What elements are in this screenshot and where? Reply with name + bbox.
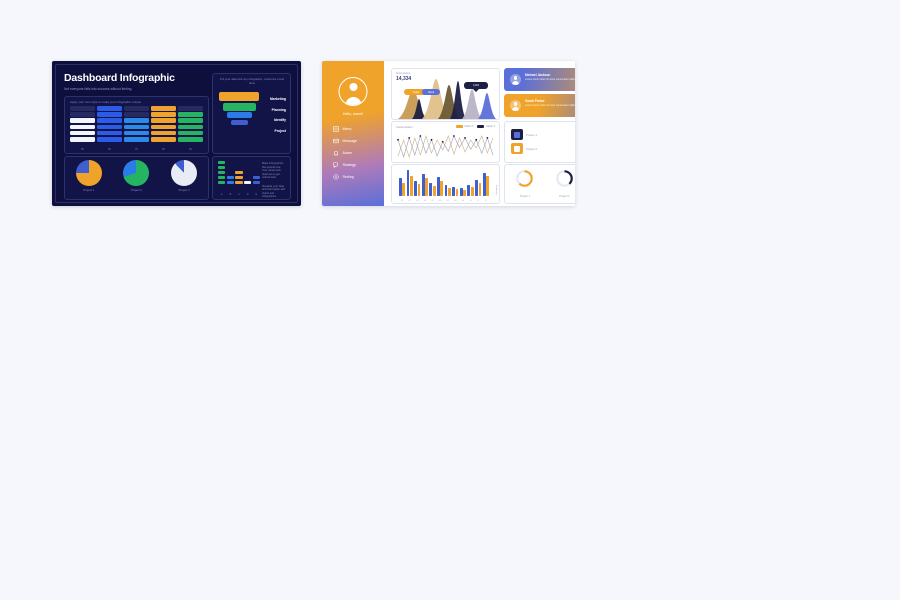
funnel-segment: [227, 112, 252, 118]
matrix-bar: [227, 166, 234, 169]
line-chart-legend: Option 1Option 2: [456, 125, 495, 128]
axis-tick: A: [218, 193, 225, 196]
axis-tick: 80: [151, 148, 176, 151]
sidebar-item-label: Strategy: [343, 163, 356, 167]
matrix-bar: [218, 181, 225, 184]
matrix-bar: [227, 176, 234, 179]
pie-slice-group: [171, 160, 197, 186]
donut-chart: [515, 169, 534, 188]
data-point: [442, 141, 444, 143]
distribution-bar-chart-card[interactable]: 010203040506070809101112 Distribution: [391, 164, 500, 204]
axis-tick: 09: [460, 200, 466, 202]
table-cell: [97, 112, 122, 117]
table-cell: [124, 137, 149, 142]
bar-group: [452, 170, 458, 196]
gear-icon: [333, 174, 339, 180]
axis-tick: 12: [483, 200, 489, 202]
table-row: [70, 131, 203, 136]
matrix-bar: [235, 171, 242, 174]
table-cell: [97, 125, 122, 130]
axis-tick: 02: [407, 200, 413, 202]
legend-label: Option 1: [464, 125, 473, 128]
bar-orange: [440, 181, 443, 196]
table-cell: [70, 112, 95, 117]
dashboard-infographic-slide[interactable]: Dashboard Infographic Not everyone falls…: [52, 61, 301, 206]
sidebar-item-menu[interactable]: Menu: [333, 123, 379, 135]
bar-blue: [429, 183, 432, 196]
bar-group: [429, 170, 435, 196]
bar-blue: [399, 178, 402, 196]
table-cell: [178, 118, 203, 123]
bar-group: [422, 170, 428, 196]
sidebar-menu: MenuMessageAlarmStrategySetting: [333, 123, 379, 183]
project-label: Project 1: [509, 195, 541, 198]
pie-label: Project 1: [74, 188, 104, 192]
axis-tick: 50: [70, 148, 95, 151]
data-point: [464, 137, 466, 139]
project-donut-row: Project 1Project 2Project 3: [505, 169, 575, 198]
axis-tick: 06: [437, 200, 443, 202]
matrix-row: [218, 181, 260, 184]
table-caption: Apply your own style to make your infogr…: [70, 100, 204, 104]
sidebar-item-label: Alarm: [343, 151, 352, 155]
bar-blue: [422, 174, 425, 196]
axis-tick: 10: [467, 200, 473, 202]
project-donut-card[interactable]: Project 1 Project 2: [504, 121, 575, 163]
table-cell: [70, 106, 95, 111]
data-point: [431, 139, 433, 141]
table-cell: [70, 137, 95, 142]
pie-slice-group: [76, 160, 102, 186]
table-cell: [97, 137, 122, 142]
avatar-head: [349, 83, 357, 91]
axis-tick: 05: [429, 200, 435, 202]
bar-orange: [479, 183, 482, 196]
table-cell: [151, 106, 176, 111]
bar-matrix-text: Make infographics that people love. Your…: [262, 162, 286, 204]
legend-label: Project 1: [526, 133, 537, 137]
area-peak: [478, 93, 496, 119]
bar-blue: [407, 170, 410, 196]
table-cell: [178, 125, 203, 130]
funnel-segment-label: Project: [258, 126, 286, 137]
bar-matrix-grid: [218, 161, 260, 186]
pie-slice-group: [123, 160, 149, 186]
table-cell: [151, 137, 176, 142]
pie-label: Project 3: [169, 188, 199, 192]
matrix-bar: [235, 176, 242, 179]
bar-group: [467, 170, 473, 196]
notification-avatar: [510, 74, 521, 85]
matrix-bar: [227, 181, 234, 184]
avatar-body: [345, 97, 361, 105]
axis-tick: 04: [422, 200, 428, 202]
axis-tick: B: [227, 193, 234, 196]
bell-icon: [333, 150, 339, 156]
notification-avatar: [510, 100, 521, 111]
matrix-bar: [253, 181, 260, 184]
bar-chart-series: [399, 170, 489, 196]
grid-icon: [333, 126, 339, 132]
legend-item: Option 1: [456, 125, 474, 128]
table-cell: [97, 118, 122, 123]
donut-legend-1: Project 1: [511, 129, 537, 140]
funnel-segments: [219, 92, 259, 126]
legend-swatch: [511, 143, 523, 154]
bar-orange: [471, 187, 474, 196]
table-grid: [70, 106, 203, 143]
sidebar-item-setting[interactable]: Setting: [333, 171, 379, 183]
sidebar-item-label: Setting: [343, 175, 354, 179]
funnel-segment-label: Planning: [258, 105, 286, 116]
axis-tick: 70: [124, 148, 149, 151]
bar-chart-x-axis: 010203040506070809101112: [399, 200, 489, 202]
bar-blue: [437, 177, 440, 196]
table-row: [70, 137, 203, 142]
table-card: Apply your own style to make your infogr…: [64, 96, 209, 154]
funnel-segment: [223, 103, 256, 111]
mail-icon: [333, 138, 339, 144]
bar-orange: [433, 186, 436, 196]
bar-blue: [414, 181, 417, 196]
funnel-labels: MarketingPlanningIdentifyProject: [258, 94, 286, 136]
project-progress-card[interactable]: Project 1Project 2Project 3: [504, 164, 575, 204]
data-point: [487, 137, 489, 139]
description-text: Visualize your data and information with…: [262, 185, 286, 199]
matrix-bar: [253, 161, 260, 164]
bar-group: [460, 170, 466, 196]
line-chart-svg: [392, 130, 499, 160]
bar-chart-y-label: Distribution: [495, 185, 497, 195]
matrix-bar: [244, 176, 251, 179]
matrix-bar: [253, 166, 260, 169]
data-point: [453, 135, 455, 137]
notification-text: Lorem ipsum dolor sit amet consectetur a…: [525, 78, 575, 82]
matrix-bar: [244, 161, 251, 164]
bar-orange: [486, 176, 489, 196]
table-cell: [124, 125, 149, 130]
axis-tick: 08: [452, 200, 458, 202]
donut-legend-2: Project 2: [511, 143, 537, 154]
dashboard-content: Total visitors 14,334 Today Week 3,204 M…: [384, 61, 575, 206]
legend-swatch: [456, 125, 463, 127]
matrix-bar: [218, 176, 225, 179]
bar-blue: [460, 188, 463, 196]
bar-blue: [475, 180, 478, 196]
notification-card-2[interactable]: Sarah Parker Lorem ipsum dolor sit amet …: [504, 94, 575, 117]
donut-chart: [555, 169, 574, 188]
matrix-bar: [244, 171, 251, 174]
matrix-row: [218, 166, 260, 169]
matrix-bar: [235, 161, 242, 164]
line-chart-caption: Consumption: [396, 125, 412, 129]
project-donut: Project 2: [548, 169, 575, 198]
bar-group: [414, 170, 420, 196]
admin-dashboard-slide[interactable]: Hello, name! MenuMessageAlarmStrategySet…: [322, 61, 575, 206]
bar-orange: [456, 189, 459, 196]
bar-orange: [463, 190, 466, 196]
bar-matrix-card: ABCDE Make infographics that people love…: [212, 156, 291, 200]
sidebar-item-label: Message: [343, 139, 358, 143]
bar-orange: [402, 183, 405, 196]
matrix-row: [218, 161, 260, 164]
axis-tick: C: [235, 193, 242, 196]
table-cell: [178, 112, 203, 117]
funnel-caption: Put your data pick any infographic, cust…: [219, 78, 285, 86]
table-cell: [178, 131, 203, 136]
line-series: [398, 136, 493, 157]
table-cell: [124, 118, 149, 123]
notification-text: Lorem ipsum dolor sit amet consectetur a…: [525, 104, 575, 108]
matrix-bar: [218, 166, 225, 169]
table-cell: [124, 131, 149, 136]
table-row: [70, 125, 203, 130]
bar-orange: [410, 176, 413, 196]
legend-label: Project 2: [526, 147, 537, 151]
bar-matrix-x-axis: ABCDE: [218, 193, 260, 196]
table-cell: [97, 106, 122, 111]
pie-label: Project 2: [121, 188, 151, 192]
avatar: [339, 77, 368, 106]
table-cell: [151, 125, 176, 130]
matrix-bar: [244, 166, 251, 169]
axis-tick: 11: [475, 200, 481, 202]
data-point: [408, 137, 410, 139]
matrix-row: [218, 171, 260, 174]
sidebar-item-strategy[interactable]: Strategy: [333, 159, 379, 171]
slide-preview-canvas: Dashboard Infographic Not everyone falls…: [0, 0, 900, 600]
area-peak: [462, 89, 482, 119]
bar-orange: [448, 188, 451, 196]
bar-group: [483, 170, 489, 196]
matrix-bar: [253, 171, 260, 174]
bar-group: [445, 170, 451, 196]
bar-orange: [425, 178, 428, 196]
table-row: [70, 106, 203, 111]
matrix-bar: [235, 181, 242, 184]
bar-blue: [452, 187, 455, 196]
bar-orange: [418, 184, 421, 196]
matrix-row: [218, 176, 260, 179]
chat-icon: [333, 162, 339, 168]
pie-chart-row: Project 1Project 2Project 3: [65, 160, 208, 192]
pie-chart: Project 1: [74, 160, 104, 192]
table-row: [70, 112, 203, 117]
table-cell: [178, 106, 203, 111]
matrix-bar: [244, 181, 251, 184]
funnel-chart-card: Put your data pick any infographic, cust…: [212, 73, 291, 154]
axis-tick: 60: [97, 148, 122, 151]
visitors-area-chart-card[interactable]: Total visitors 14,334 Today Week 3,204: [391, 68, 500, 120]
page-subtitle: Not everyone falls into success without …: [64, 87, 204, 91]
table-cell: [70, 118, 95, 123]
data-point: [397, 139, 399, 141]
axis-tick: 07: [445, 200, 451, 202]
matrix-bar: [218, 171, 225, 174]
project-label: Project 2: [548, 195, 575, 198]
tooltip-value: 3,204: [464, 82, 488, 89]
table-cell: [151, 118, 176, 123]
data-point: [475, 139, 477, 141]
matrix-bar: [227, 161, 234, 164]
table-cell: [70, 131, 95, 136]
legend-label: Option 2: [486, 125, 495, 128]
sidebar: Hello, name! MenuMessageAlarmStrategySet…: [322, 61, 384, 206]
matrix-bar: [253, 176, 260, 179]
bar-blue: [483, 173, 486, 196]
page-title: Dashboard Infographic: [64, 73, 214, 84]
legend-swatch: [477, 125, 484, 127]
table-cell: [151, 112, 176, 117]
greeting-text: Hello, name!: [322, 112, 384, 116]
pie-chart: Project 3: [169, 160, 199, 192]
table-cell: [97, 131, 122, 136]
pie-charts-card: Project 1Project 2Project 3: [64, 156, 209, 200]
table-x-axis: 5060708090: [70, 148, 203, 151]
notification-name: Michael Jackson: [525, 73, 550, 77]
legend-item: Option 2: [477, 125, 495, 128]
pie-chart: Project 2: [121, 160, 151, 192]
matrix-bar: [227, 171, 234, 174]
table-cell: [124, 106, 149, 111]
matrix-bar: [218, 161, 225, 164]
table-cell: [178, 137, 203, 142]
axis-tick: 03: [414, 200, 420, 202]
bar-group: [407, 170, 413, 196]
table-cell: [70, 125, 95, 130]
table-cell: [151, 131, 176, 136]
sidebar-item-label: Menu: [343, 127, 352, 131]
axis-tick: D: [244, 193, 251, 196]
bar-blue: [467, 185, 470, 196]
project-donut: Project 1: [509, 169, 541, 198]
funnel-segment-label: Marketing: [258, 94, 286, 105]
table-cell: [124, 112, 149, 117]
bar-group: [475, 170, 481, 196]
funnel-segment: [219, 92, 259, 101]
data-point: [419, 135, 421, 137]
axis-tick: 90: [178, 148, 203, 151]
legend-swatch: [511, 129, 523, 140]
axis-tick: E: [253, 193, 260, 196]
bar-group: [399, 170, 405, 196]
axis-tick: 01: [399, 200, 405, 202]
consumption-line-chart-card[interactable]: Consumption Option 1Option 2: [391, 121, 500, 163]
tag-week[interactable]: Week: [422, 89, 440, 95]
description-text: Make infographics that people love. Your…: [262, 162, 286, 180]
sidebar-item-message[interactable]: Message: [333, 135, 379, 147]
funnel-segment-label: Identify: [258, 115, 286, 126]
bar-blue: [445, 185, 448, 196]
notification-card-1[interactable]: Michael Jackson Lorem ipsum dolor sit am…: [504, 68, 575, 91]
funnel-segment: [231, 120, 248, 125]
sidebar-item-alarm[interactable]: Alarm: [333, 147, 379, 159]
bar-group: [437, 170, 443, 196]
table-row: [70, 118, 203, 123]
notification-name: Sarah Parker: [525, 99, 545, 103]
matrix-bar: [235, 166, 242, 169]
